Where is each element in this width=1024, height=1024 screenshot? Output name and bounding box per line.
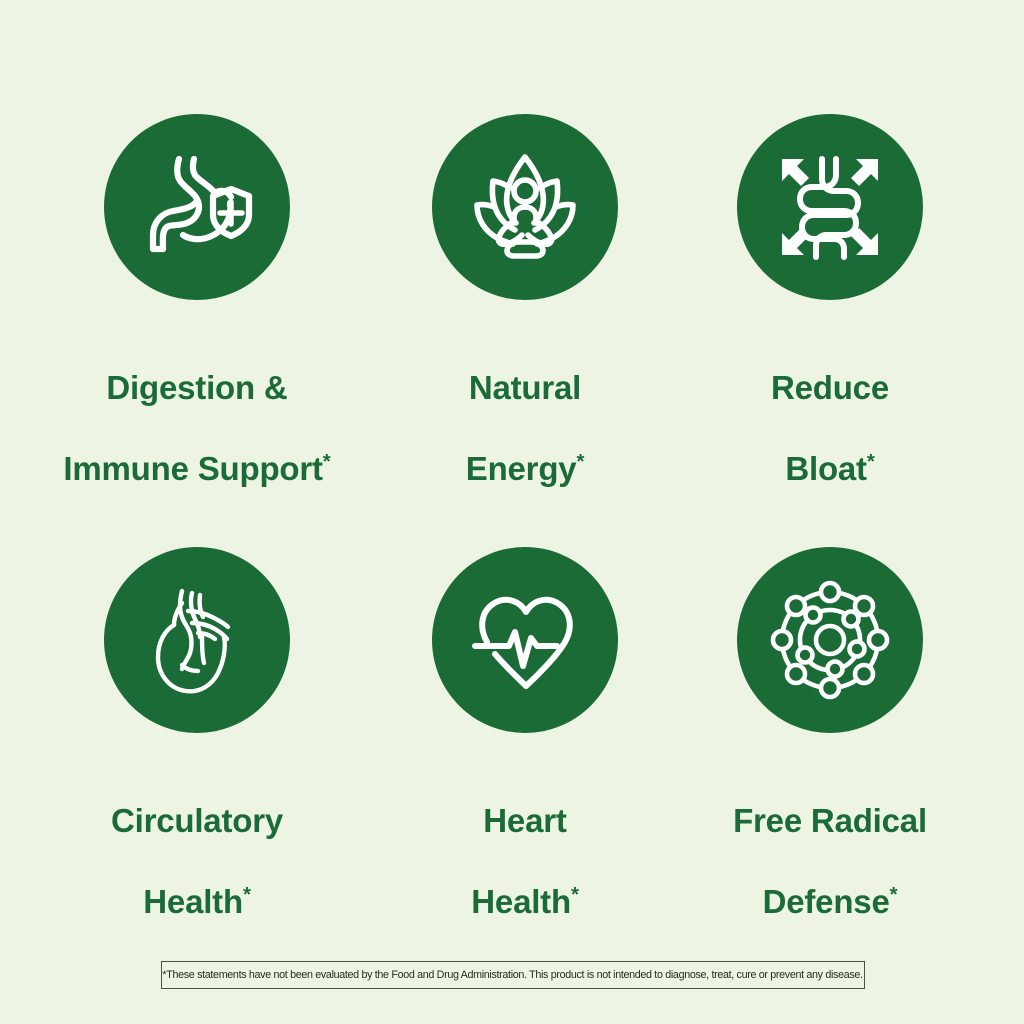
benefit-label-line-2: Energy* (466, 449, 584, 489)
disclaimer-box: *These statements have not been evaluate… (161, 961, 865, 989)
benefit-item-reduce-bloat: Reduce Bloat* (665, 114, 995, 529)
antioxidant-molecule-icon (737, 547, 923, 733)
asterisk: * (571, 883, 579, 906)
benefit-label-line-2: Defense* (733, 882, 927, 922)
benefit-label-line-1: Heart (471, 801, 578, 841)
benefit-label-line-2: Health* (471, 882, 578, 922)
benefit-label-line-1: Digestion & (63, 368, 330, 408)
benefit-label: Reduce Bloat* (771, 328, 889, 529)
asterisk: * (867, 450, 875, 473)
heart-pulse-icon (432, 547, 618, 733)
anatomical-heart-icon (104, 547, 290, 733)
benefit-item-natural-energy: Natural Energy* (360, 114, 690, 529)
benefit-label-line-2: Immune Support* (63, 449, 330, 489)
benefit-label: Digestion & Immune Support* (63, 328, 330, 529)
asterisk: * (323, 450, 331, 473)
benefit-label: Circulatory Health* (111, 761, 283, 962)
lotus-meditation-icon (432, 114, 618, 300)
stomach-shield-icon (104, 114, 290, 300)
benefit-label-line-1: Reduce (771, 368, 889, 408)
benefit-item-heart-health: Heart Health* (360, 547, 690, 962)
benefit-label-line-2: Bloat* (771, 449, 889, 489)
benefit-label-line-2: Health* (111, 882, 283, 922)
disclaimer-text: *These statements have not been evaluate… (163, 969, 863, 981)
benefit-label-line-1: Circulatory (111, 801, 283, 841)
benefits-grid: Digestion & Immune Support* Natural Ene (0, 0, 1024, 1024)
asterisk: * (576, 450, 584, 473)
benefit-item-circulatory-health: Circulatory Health* (32, 547, 362, 962)
benefit-item-free-radical-defense: Free Radical Defense* (665, 547, 995, 962)
benefit-label-line-1: Natural (466, 368, 584, 408)
benefit-label-line-1: Free Radical (733, 801, 927, 841)
intestine-arrows-icon (737, 114, 923, 300)
asterisk: * (890, 883, 898, 906)
benefit-item-digestion-immune-support: Digestion & Immune Support* (32, 114, 362, 529)
asterisk: * (243, 883, 251, 906)
benefit-label: Free Radical Defense* (733, 761, 927, 962)
benefit-label: Heart Health* (471, 761, 578, 962)
benefit-label: Natural Energy* (466, 328, 584, 529)
